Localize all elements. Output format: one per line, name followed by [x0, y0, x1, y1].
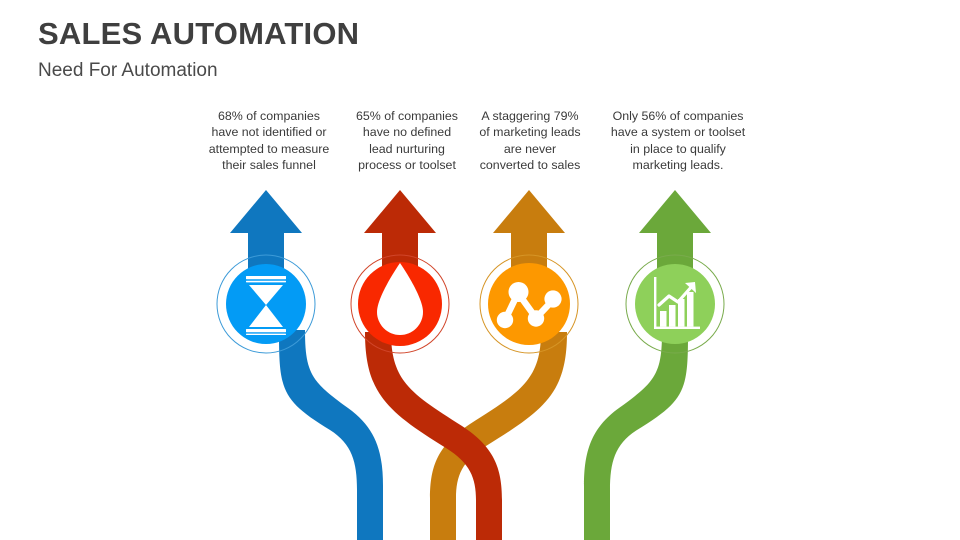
icon-circle-lead-qualification[interactable]	[635, 264, 715, 344]
column-lead-conversion[interactable]	[480, 190, 578, 353]
column-lead-nurturing[interactable]	[351, 190, 449, 353]
column-sales-funnel[interactable]	[217, 190, 315, 353]
column-lead-qualification[interactable]	[626, 190, 724, 353]
slide-canvas: SALES AUTOMATION Need For Automation 68%…	[0, 0, 960, 540]
infographic-graphic	[0, 0, 960, 540]
ribbon-lead-qualification	[584, 332, 688, 540]
